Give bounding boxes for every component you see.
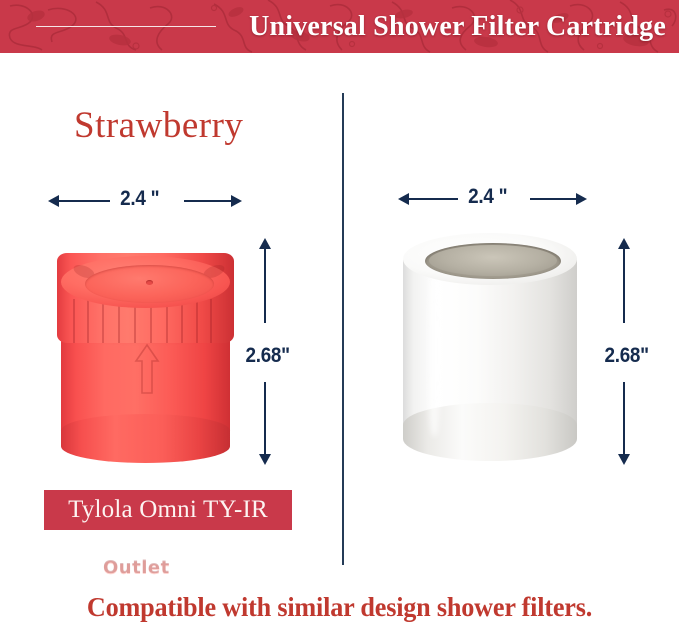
product-infographic: Universal Shower Filter Cartridge Strawb…: [0, 0, 679, 633]
left-width-label: 2.4 ": [120, 187, 159, 211]
brand-label-text: Tylola Omni TY-IR: [68, 496, 268, 524]
header-decorative-rule: [36, 26, 216, 27]
right-width-line-start: [408, 198, 458, 200]
white-shower-filter-housing: [400, 231, 580, 463]
emboss-outlet-label: Outlet: [103, 557, 170, 578]
right-height-line-top: [623, 248, 625, 323]
red-cartridge-cap: [57, 253, 234, 343]
right-height-line-bottom: [623, 382, 625, 455]
red-cap-top-face: [61, 256, 230, 308]
red-cap-center-nub: [146, 280, 153, 285]
right-height-arrow-head-bottom: [618, 454, 630, 465]
emboss-flow-arrow-icon: [134, 343, 160, 395]
panel-divider: [342, 93, 344, 565]
left-height-label: 2.68": [245, 344, 289, 368]
white-housing-top-edge: [403, 233, 577, 285]
red-shower-filter-cartridge: Outlet Inlet: [57, 231, 234, 463]
right-height-label: 2.68": [604, 344, 648, 368]
footer-caption: Compatible with similar design shower fi…: [10, 592, 669, 623]
left-width-arrow-head-end: [231, 195, 242, 207]
left-height-line-top: [264, 248, 266, 323]
left-height-line-bottom: [264, 382, 266, 455]
left-height-arrow-head-bottom: [259, 454, 271, 465]
left-width-line-start: [58, 200, 110, 202]
header-title: Universal Shower Filter Cartridge: [249, 11, 666, 43]
left-width-line-end: [184, 200, 232, 202]
brand-label: Tylola Omni TY-IR: [44, 490, 292, 530]
white-housing-highlight: [426, 265, 443, 437]
flavor-title: Strawberry: [74, 104, 243, 147]
red-cartridge-bottom: [61, 414, 230, 463]
right-width-line-end: [530, 198, 577, 200]
right-width-label: 2.4 ": [468, 185, 507, 209]
white-housing-inner-rim: [429, 245, 557, 276]
right-width-arrow-head-end: [576, 193, 587, 205]
header-banner: Universal Shower Filter Cartridge: [0, 0, 679, 53]
